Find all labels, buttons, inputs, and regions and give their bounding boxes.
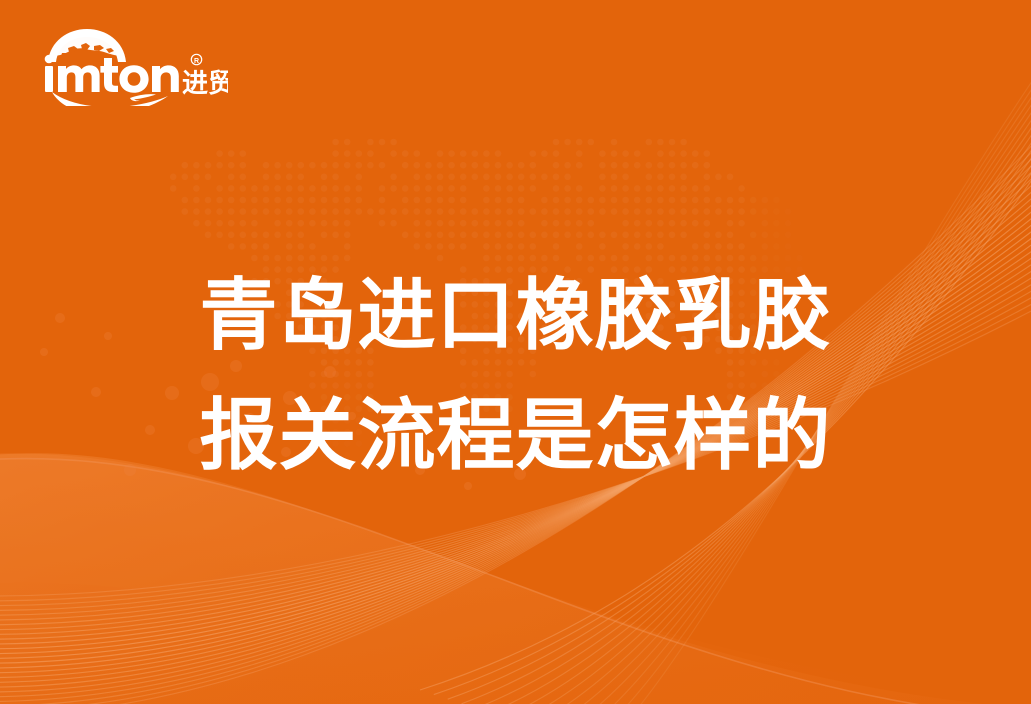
page-title: 青岛进口橡胶乳胶 报关流程是怎样的 bbox=[0, 255, 1031, 495]
swoosh-icon bbox=[52, 92, 168, 106]
wordmark-imton bbox=[45, 55, 179, 93]
title-line-2: 报关流程是怎样的 bbox=[0, 375, 1031, 495]
brand-logo[interactable]: 进贸通 R imton 进贸通 bbox=[38, 26, 228, 106]
title-line-1: 青岛进口橡胶乳胶 bbox=[0, 255, 1031, 375]
logo-chinese-text: 进贸通 bbox=[182, 68, 228, 98]
svg-text:R: R bbox=[194, 58, 199, 65]
globe-swoosh-logo: 进贸通 R bbox=[38, 26, 228, 106]
banner-root: 进贸通 R imton 进贸通 青岛进口橡胶乳胶 报关流程是怎样的 bbox=[0, 0, 1031, 704]
registered-icon: R bbox=[191, 54, 201, 65]
